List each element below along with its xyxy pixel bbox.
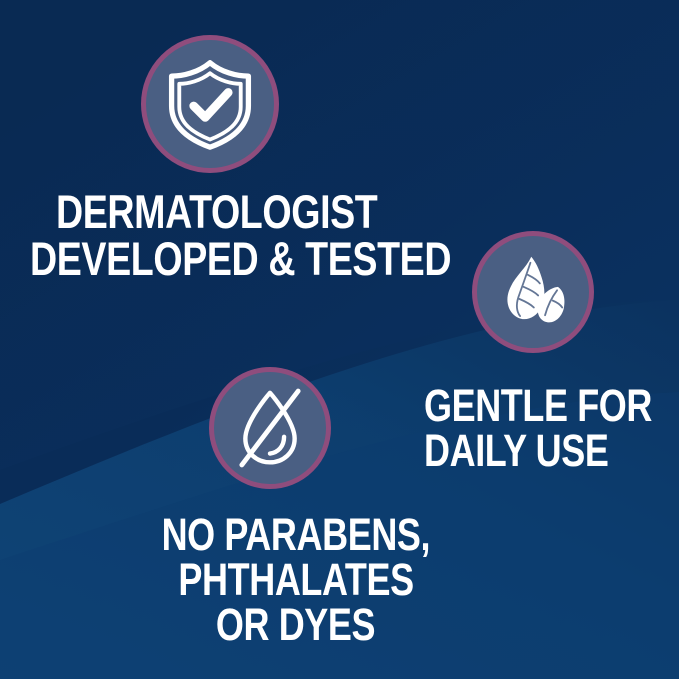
benefit-line: DAILY USE [424, 428, 608, 473]
benefit-text-no-parabens: NO PARABENS, PHTHALATES OR DYES [128, 512, 464, 647]
benefit-line: OR DYES [216, 602, 375, 647]
benefit-badge-dermatologist [141, 35, 279, 173]
shield-check-icon [162, 56, 258, 152]
benefit-line: DERMATOLOGIST [56, 188, 377, 235]
benefit-text-gentle: GENTLE FOR DAILY USE [424, 383, 679, 473]
benefit-line: DEVELOPED & TESTED [30, 235, 451, 282]
no-droplet-icon [226, 384, 314, 472]
benefit-line: NO PARABENS, [162, 512, 431, 557]
infographic-canvas: DERMATOLOGIST DEVELOPED & TESTED GENTLE … [0, 0, 679, 679]
benefit-badge-no-parabens [209, 367, 331, 489]
benefit-line: GENTLE FOR [424, 383, 652, 428]
benefit-text-dermatologist: DERMATOLOGIST DEVELOPED & TESTED [30, 188, 556, 282]
benefit-line: PHTHALATES [178, 557, 413, 602]
